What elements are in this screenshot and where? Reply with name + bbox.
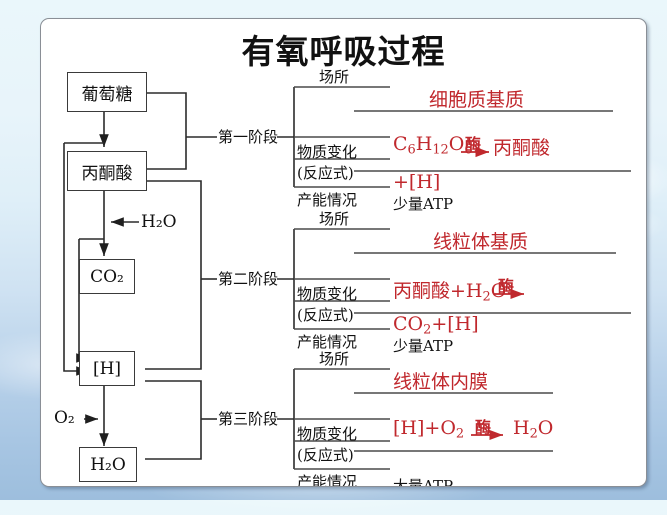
- stage-1-name: 第一阶段: [218, 126, 278, 147]
- node-co2-label: CO₂: [90, 267, 124, 287]
- stage-3-name: 第三阶段: [218, 408, 278, 429]
- stage-3-place-value: 线粒体内膜: [393, 367, 488, 394]
- stage-2-place-value: 线粒体基质: [433, 227, 528, 254]
- stage-3-row-energy-label: 产能情况: [297, 471, 357, 487]
- node-h: [H]: [79, 351, 135, 386]
- stage-1-equation-catalyst: 酶: [465, 131, 481, 155]
- node-co2: CO₂: [79, 259, 135, 294]
- input-oxygen-label: O₂: [54, 408, 75, 428]
- stage-2-equation-left: 丙酮酸+H2O: [393, 276, 506, 305]
- stage-1-equation-right: 丙酮酸: [493, 133, 550, 160]
- node-pyruvate-label: 丙酮酸: [82, 159, 133, 184]
- stage-3-row-place-label: 场所: [319, 348, 349, 369]
- node-glucose: 葡萄糖: [67, 72, 147, 112]
- node-h-label: [H]: [93, 359, 121, 379]
- stage-3-row-change-sub: (反应式): [297, 444, 354, 465]
- node-glucose-label: 葡萄糖: [82, 80, 133, 105]
- stage-1-place-value: 细胞质基质: [429, 85, 524, 112]
- stage-1-equation-left: C6H12O6: [393, 133, 473, 158]
- node-h2o: H₂O: [79, 447, 137, 482]
- stage-1-row-change-sub: (反应式): [297, 162, 354, 183]
- stage-1-row-change-label: 物质变化: [297, 141, 357, 162]
- stage-1-energy-value: 少量ATP: [393, 193, 453, 214]
- stage-2-row-place-label: 场所: [319, 208, 349, 229]
- stage-3-equation-catalyst: 酶: [475, 414, 491, 438]
- input-water-label: H₂O: [141, 212, 177, 232]
- stage-3-equation-right: H2O: [513, 417, 553, 442]
- stage-1-equation-second-line: +[H]: [393, 171, 440, 193]
- stage-2-row-change-sub: (反应式): [297, 304, 354, 325]
- stage-2-equation-catalyst: 酶: [498, 273, 514, 297]
- stage-2-name: 第二阶段: [218, 268, 278, 289]
- stage-3-energy-value: 大量ATP: [393, 475, 453, 487]
- node-h2o-label: H₂O: [90, 455, 126, 475]
- stage-1-row-place-label: 场所: [319, 66, 349, 87]
- stage-3-row-change-label: 物质变化: [297, 423, 357, 444]
- stage-2-energy-value: 少量ATP: [393, 335, 453, 356]
- stage-2-equation-second-line: CO2+[H]: [393, 313, 479, 338]
- stage-2-row-change-label: 物质变化: [297, 283, 357, 304]
- stage-3-equation-left: [H]+O2: [393, 417, 464, 442]
- slide-card: 有氧呼吸过程: [40, 18, 647, 487]
- stage-1-row-energy-label: 产能情况: [297, 189, 357, 210]
- node-pyruvate: 丙酮酸: [67, 151, 147, 191]
